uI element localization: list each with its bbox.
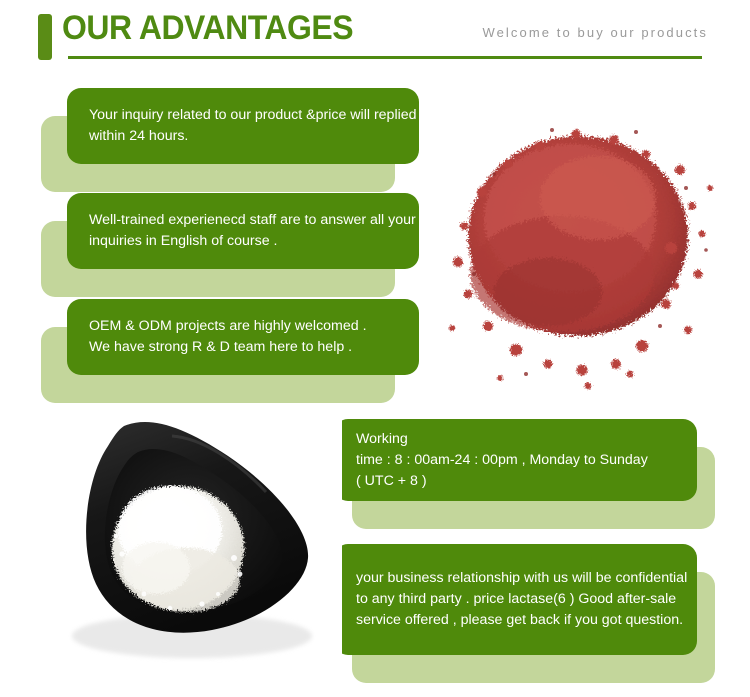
header-accent-bar <box>38 14 52 60</box>
card-text: Your inquiry related to our product &pri… <box>67 105 419 147</box>
red-powder-pile-photo <box>430 78 740 408</box>
card-text: your business relationship with us will … <box>334 568 697 631</box>
card-body: Your inquiry related to our product &pri… <box>67 88 419 164</box>
page-title: OUR ADVANTAGES <box>62 9 353 48</box>
header-tagline: Welcome to buy our products <box>482 25 708 40</box>
card-text: OEM & ODM projects are highly welcomed .… <box>67 316 367 358</box>
page-header: OUR ADVANTAGES Welcome to buy our produc… <box>0 0 750 72</box>
card-body: OEM & ODM projects are highly welcomed .… <box>67 299 419 375</box>
card-body: Well-trained experienecd staff are to an… <box>67 193 419 269</box>
card-body: Working time : 8 : 00am-24 : 00pm , Mond… <box>334 419 697 501</box>
header-divider-rule <box>68 56 702 59</box>
card-text: Well-trained experienecd staff are to an… <box>67 210 419 252</box>
white-powder-dish-photo <box>52 408 342 670</box>
card-text: Working time : 8 : 00am-24 : 00pm , Mond… <box>334 429 648 492</box>
card-body: your business relationship with us will … <box>334 544 697 655</box>
